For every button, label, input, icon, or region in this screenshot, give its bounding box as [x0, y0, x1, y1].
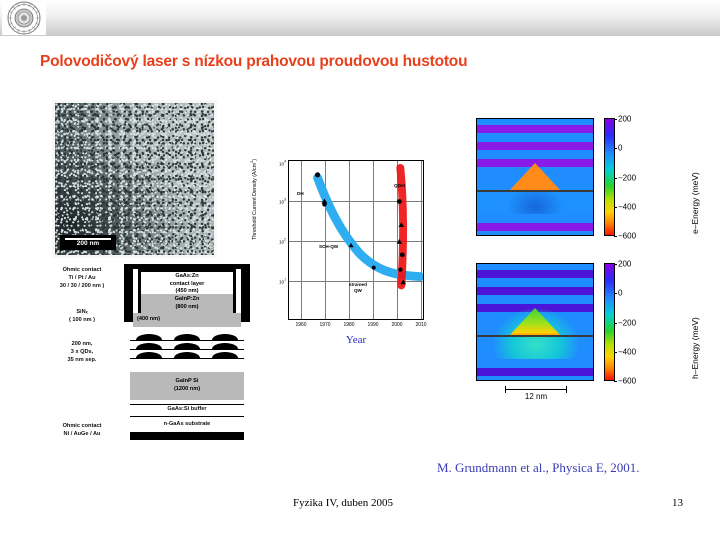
wetting-layer: [477, 335, 593, 337]
layer-400nm: (400 nm): [133, 313, 241, 327]
layer-ohmic-bottom-metal: [130, 432, 244, 440]
quantum-dot: [136, 334, 162, 340]
layer-gaas-zn: GaAs:Zn contact layer (450 nm): [141, 272, 233, 294]
chart-plot-area: DH SCH-QW strained QW QDot 104 103 102 1…: [288, 160, 424, 320]
qd-line-1: [130, 340, 244, 341]
cb-dash: [614, 119, 617, 120]
electron-cb-tick-0: 0: [618, 144, 622, 153]
hole-colorbar-title: h–Energy (meV): [690, 317, 700, 379]
electron-map-image: [476, 118, 594, 236]
layer-buffer-label: GaAs:Si buffer: [130, 406, 244, 412]
quantum-dot: [174, 343, 200, 349]
cb-dash: [614, 264, 617, 265]
quantum-dot: [136, 352, 162, 358]
cb-dash: [614, 323, 617, 324]
qd-row-2: [124, 343, 250, 349]
stack-label-ohmic-top: Ohmic contact Ti / Pt / Au 30 / 30 / 200…: [44, 266, 120, 290]
cb-dash: [614, 236, 617, 237]
chart-annotation-dh: DH: [297, 191, 304, 197]
hole-cb-tick-m200: −200: [618, 319, 636, 328]
band: [477, 231, 593, 236]
chart-ytick-1e3: 103: [279, 198, 286, 205]
hole-map-image: [476, 263, 594, 381]
band: [477, 359, 593, 368]
band: [477, 270, 593, 278]
chart-xtick-1970: 1970: [319, 322, 330, 328]
stack-label-ohmic-bottom-text: Ohmic contact Ni / AuGe / Au: [63, 423, 102, 437]
layer-gainp-si: GaInP Si (1200 nm): [130, 372, 244, 400]
electron-cb-tick-200: 200: [618, 115, 631, 124]
university-seal-logo: [2, 1, 46, 35]
layer-gaas-zn-label: GaAs:Zn contact layer (450 nm): [141, 273, 233, 296]
band: [477, 295, 593, 304]
chart-xtick-1960: 1960: [295, 322, 306, 328]
quantum-dot: [212, 352, 238, 358]
chart-ytick-1e4: 104: [279, 160, 286, 167]
threshold-current-chart: Threshold Current Density (A/cm2): [252, 152, 438, 364]
layer-ohmic-left-wall: [124, 264, 133, 322]
chart-xtick-2000: 2000: [391, 322, 402, 328]
map-scalebar-line: [505, 389, 567, 390]
qd-row-1: [124, 334, 250, 340]
hole-colorbar: 200 0 −200 −400 −600: [604, 263, 615, 381]
layer-ohmic-right-wall: [241, 264, 250, 322]
electron-energy-map: 200 0 −200 −400 −600 e–Energy (meV): [476, 118, 706, 238]
band: [477, 125, 593, 133]
stack-cross-section: GaAs:Zn contact layer (450 nm) GaInP:Zn …: [124, 264, 250, 444]
layer-gainp-zn: GaInP:Zn (800 nm): [141, 294, 233, 313]
cb-dash: [614, 148, 617, 149]
layer-gainp-zn-label: GaInP:Zn (800 nm): [141, 296, 233, 311]
chart-annotation-qdot: QDot: [394, 183, 405, 189]
hole-cb-tick-m400: −400: [618, 348, 636, 357]
band: [477, 368, 593, 376]
cb-dash: [614, 293, 617, 294]
micrograph-scalebar: 200 nm: [60, 235, 116, 251]
electron-colorbar: 200 0 −200 −400 −600: [604, 118, 615, 236]
band: [477, 278, 593, 287]
stack-label-ohmic-bottom: Ohmic contact Ni / AuGe / Au: [44, 422, 120, 438]
band: [477, 150, 593, 159]
chart-annotation-sch-qw: SCH-QW: [319, 244, 338, 250]
quantum-dot: [212, 343, 238, 349]
map-scalebar: 12 nm: [500, 389, 572, 401]
chart-y-axis-label: Threshold Current Density (A/cm2): [250, 159, 258, 240]
layer-gainp-si-label: GaInP Si (1200 nm): [130, 378, 244, 393]
cb-dash: [614, 381, 617, 382]
slide-canvas: Polovodičový laser s nízkou prahovou pro…: [0, 0, 720, 540]
stack-label-qds-text: 200 nm, 3 x QDs, 35 nm sep.: [68, 341, 97, 363]
cb-dash: [614, 352, 617, 353]
band: [477, 376, 593, 381]
layer-substrate-label: n-GaAs substrate: [130, 421, 244, 427]
quantum-dot: [174, 352, 200, 358]
chart-xtick-1980: 1980: [343, 322, 354, 328]
hole-energy-map: 200 0 −200 −400 −600 h–Energy (meV) 12 n…: [476, 263, 706, 408]
electron-cb-tick-m200: −200: [618, 174, 636, 183]
quantum-dot: [212, 334, 238, 340]
scalebar-label: 200 nm: [65, 241, 111, 248]
hole-cb-tick-0: 0: [618, 289, 622, 298]
header-banner: [0, 0, 720, 36]
tem-image-area: 200 nm: [55, 103, 214, 255]
band: [477, 133, 593, 142]
quantum-dot-pyramid: [509, 163, 561, 191]
seal-icon: [2, 1, 46, 35]
quantum-dot-texture: [55, 103, 214, 255]
stack-label-ohmic-top-text: Ohmic contact Ti / Pt / Au 30 / 30 / 200…: [60, 267, 104, 289]
stack-label-sin: SiNₓ ( 100 nm ): [44, 308, 120, 324]
qd-line-2: [130, 349, 244, 350]
map-scalebar-label: 12 nm: [525, 392, 547, 401]
wetting-layer: [477, 190, 593, 192]
cb-dash: [614, 207, 617, 208]
stack-label-qds: 200 nm, 3 x QDs, 35 nm sep.: [44, 340, 120, 364]
citation: M. Grundmann et al., Physica E, 2001.: [437, 460, 640, 476]
chart-xtick-2010: 2010: [415, 322, 426, 328]
buffer-line-top: [130, 404, 244, 405]
band: [477, 142, 593, 150]
chart-ytick-1e2: 102: [279, 238, 286, 245]
electron-cb-tick-m600: −600: [618, 232, 636, 241]
chart-annotation-strained-qw: strained QW: [349, 282, 367, 293]
layer-stack-diagram: Ohmic contact Ti / Pt / Au 30 / 30 / 200…: [44, 264, 252, 444]
footer-left: Fyzika IV, duben 2005: [293, 497, 393, 509]
hole-cb-tick-200: 200: [618, 260, 631, 269]
hole-cb-tick-m600: −600: [618, 377, 636, 386]
qd-row-3: [124, 352, 250, 358]
chart-ytick-1e1: 101: [279, 278, 286, 285]
layer-400nm-label: (400 nm): [133, 316, 241, 324]
stack-label-sin-text: SiNₓ ( 100 nm ): [69, 309, 95, 323]
qd-line-3: [130, 358, 244, 359]
band: [477, 214, 593, 223]
chart-x-axis-label: Year: [288, 334, 424, 346]
footer-page-number: 13: [672, 497, 683, 509]
quantum-dot: [174, 334, 200, 340]
electron-colorbar-title: e–Energy (meV): [690, 172, 700, 234]
band: [477, 287, 593, 295]
page-title: Polovodičový laser s nízkou prahovou pro…: [40, 53, 680, 71]
chart-xtick-1990: 1990: [367, 322, 378, 328]
band: [477, 223, 593, 231]
buffer-line-bottom: [130, 416, 244, 417]
cb-dash: [614, 178, 617, 179]
quantum-dot: [136, 343, 162, 349]
electron-cb-tick-m400: −400: [618, 203, 636, 212]
tem-micrograph: 200 nm: [52, 100, 217, 258]
